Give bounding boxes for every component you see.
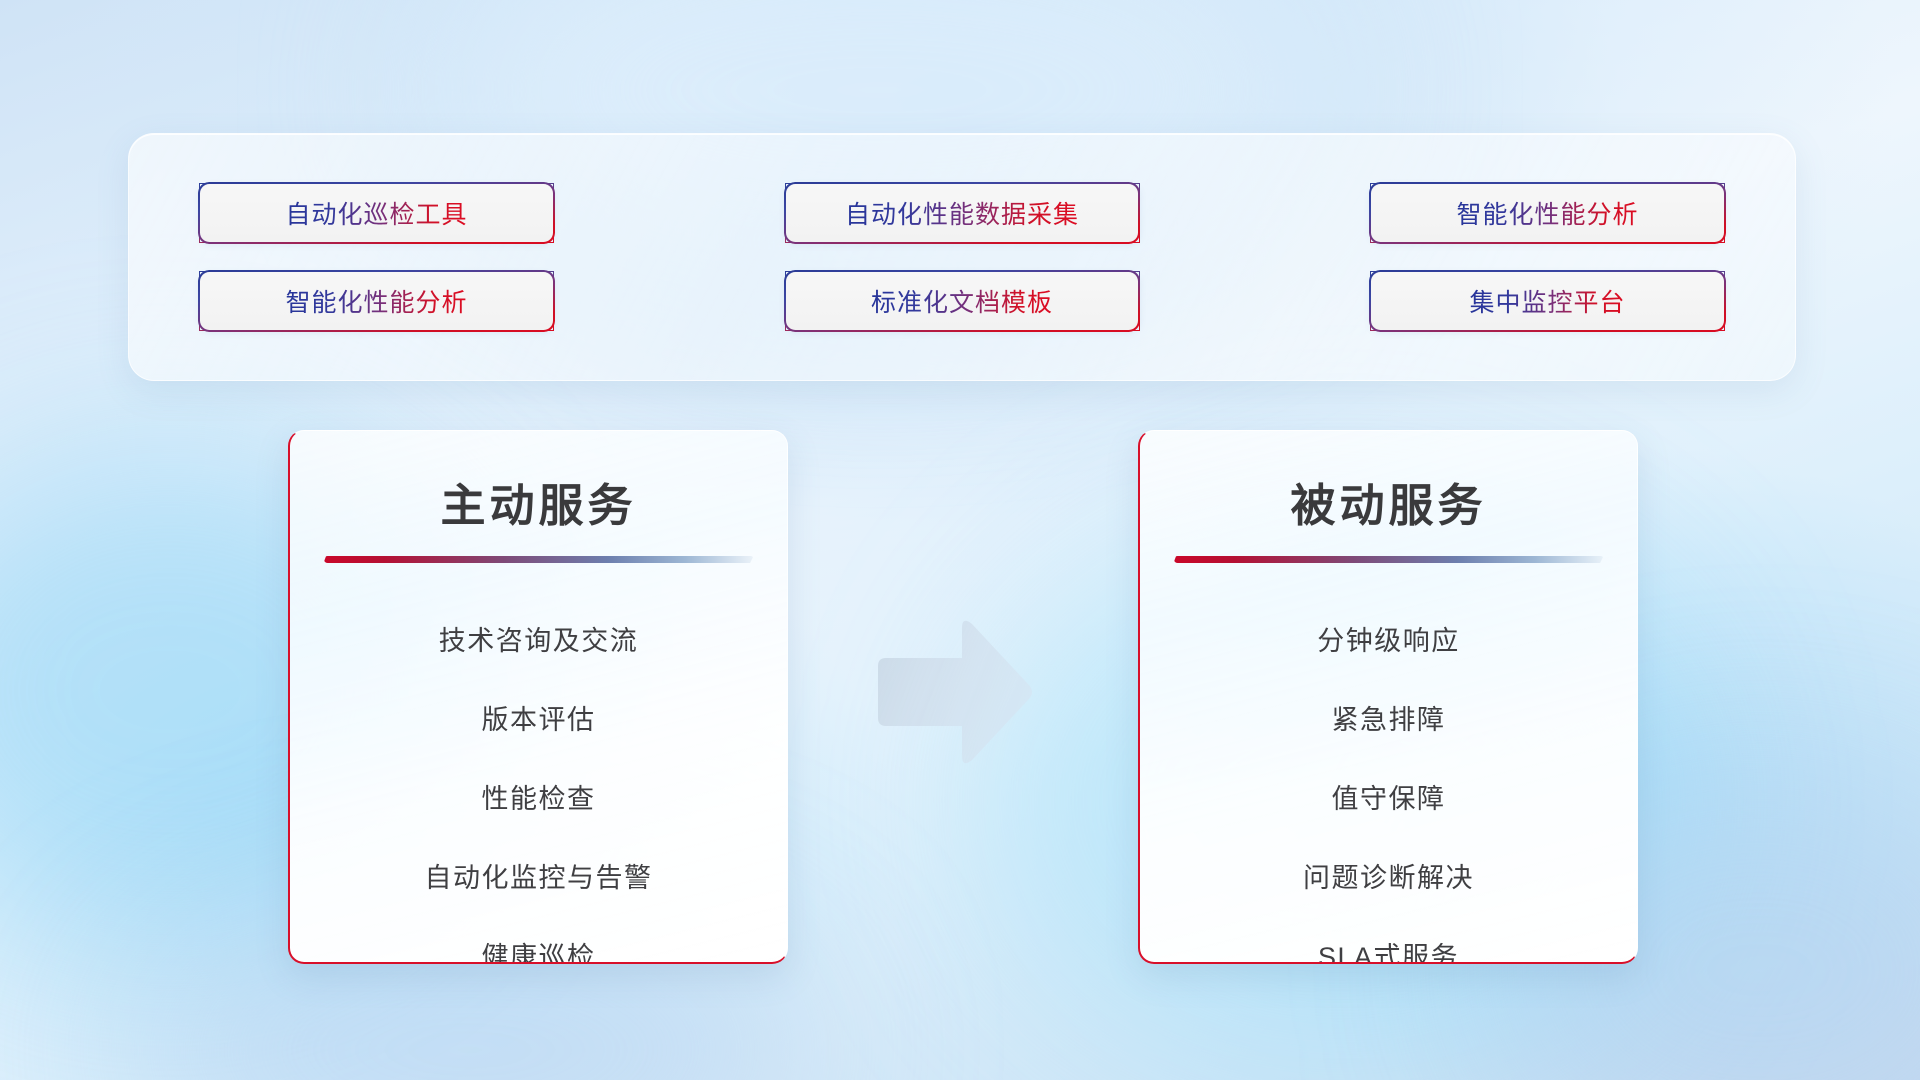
capability-tag-intelligent-performance-analysis[interactable]: 智能化性能分析 xyxy=(1370,183,1725,243)
list-item: 技术咨询及交流 xyxy=(290,599,787,678)
capability-row-2: 智能化性能分析 标准化文档模板 集中监控平台 xyxy=(199,271,1725,331)
list-item: 紧急排障 xyxy=(1140,678,1637,757)
list-item: 性能检查 xyxy=(290,757,787,836)
capability-tag-automated-performance-data-collection[interactable]: 自动化性能数据采集 xyxy=(785,183,1140,243)
capability-tag-intelligent-performance-analysis-2[interactable]: 智能化性能分析 xyxy=(199,271,554,331)
list-item: 分钟级响应 xyxy=(1140,599,1637,678)
capability-tag-label: 自动化性能数据采集 xyxy=(845,195,1079,231)
list-item: 健康巡检 xyxy=(290,915,787,964)
right-arrow-icon xyxy=(866,610,1038,782)
capability-tag-label: 自动化巡检工具 xyxy=(285,195,467,231)
list-item: 问题诊断解决 xyxy=(1140,836,1637,915)
capability-tag-automated-inspection-tool[interactable]: 自动化巡检工具 xyxy=(199,183,554,243)
diagram-canvas: 自动化巡检工具 自动化性能数据采集 智能化性能分析 智能化性能分析 标准化文档模… xyxy=(0,0,1920,1080)
list-item: 值守保障 xyxy=(1140,757,1637,836)
service-card-title: 被动服务 xyxy=(1140,469,1637,534)
list-item: SLA式服务 xyxy=(1140,915,1637,964)
capability-tag-label: 智能化性能分析 xyxy=(285,283,467,319)
list-item: 版本评估 xyxy=(290,678,787,757)
service-card-proactive[interactable]: 主动服务 技术咨询及交流 版本评估 性能检查 自动化监控与告警 健康巡检 xyxy=(288,430,788,964)
capability-tag-standardized-document-template[interactable]: 标准化文档模板 xyxy=(785,271,1140,331)
capability-row-1: 自动化巡检工具 自动化性能数据采集 智能化性能分析 xyxy=(199,183,1725,243)
service-item-list: 分钟级响应 紧急排障 值守保障 问题诊断解决 SLA式服务 xyxy=(1140,599,1637,964)
gradient-divider xyxy=(324,556,754,563)
capability-tag-centralized-monitoring-platform[interactable]: 集中监控平台 xyxy=(1370,271,1725,331)
gradient-divider xyxy=(1174,556,1604,563)
capability-tag-label: 智能化性能分析 xyxy=(1456,195,1638,231)
service-card-reactive[interactable]: 被动服务 分钟级响应 紧急排障 值守保障 问题诊断解决 SLA式服务 xyxy=(1138,430,1638,964)
service-card-title: 主动服务 xyxy=(290,469,787,534)
capability-tag-label: 标准化文档模板 xyxy=(871,283,1053,319)
capability-panel: 自动化巡检工具 自动化性能数据采集 智能化性能分析 智能化性能分析 标准化文档模… xyxy=(128,133,1796,381)
capability-tag-label: 集中监控平台 xyxy=(1469,283,1625,319)
service-item-list: 技术咨询及交流 版本评估 性能检查 自动化监控与告警 健康巡检 xyxy=(290,599,787,964)
list-item: 自动化监控与告警 xyxy=(290,836,787,915)
